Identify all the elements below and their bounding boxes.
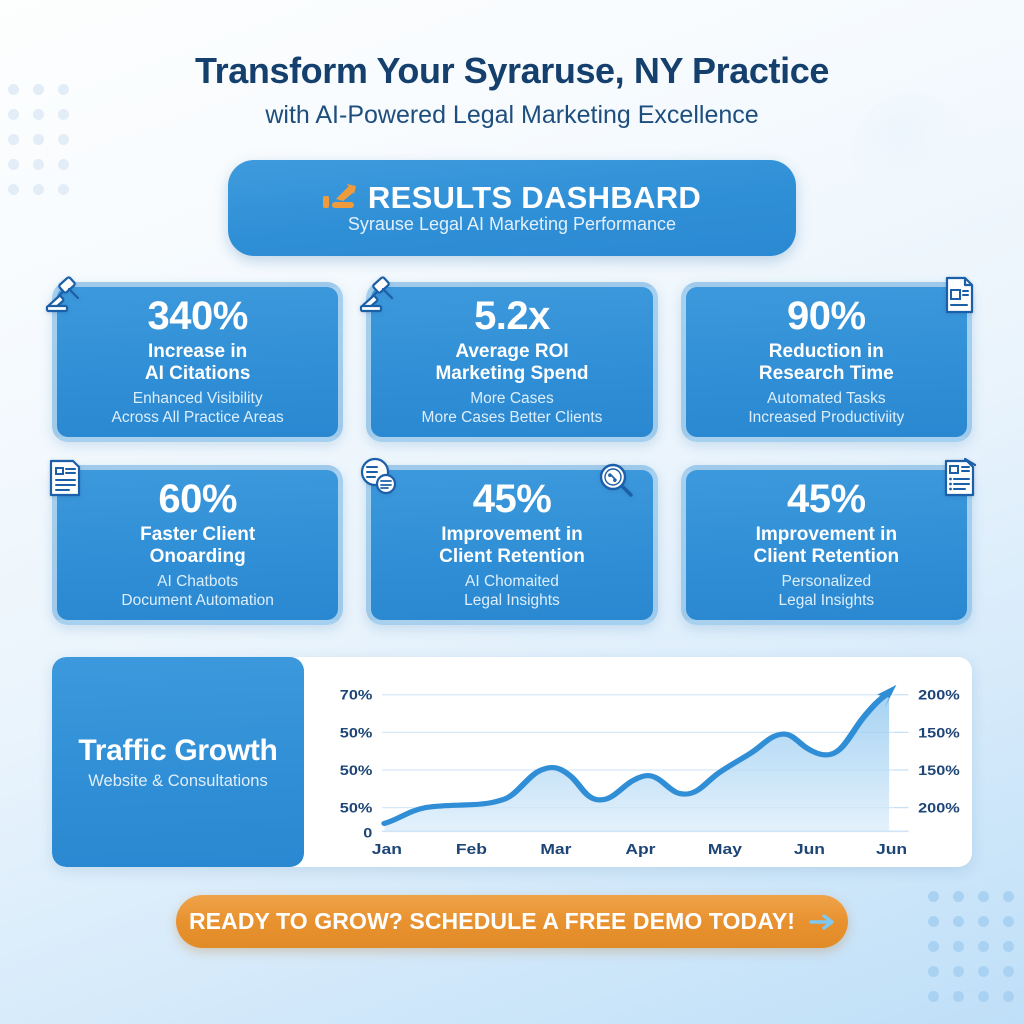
stat-card-label-line2: Research Time [759,363,894,385]
y-left-tick: 50% [340,802,373,816]
stat-card-desc-line2: Document Automation [121,592,274,610]
stat-card-value: 45% [473,479,552,519]
y-left-tick: 70% [340,689,373,703]
x-tick: Mar [540,843,571,858]
stat-card-label: Increase in AI Citations [145,341,251,384]
stat-card-label: Improvement in Client Retention [439,524,585,567]
stat-card-desc-line1: Personalized [779,573,875,591]
stat-card-desc-line1: Enhanced Visibility [112,390,284,408]
stat-card-label-line1: Improvement in [753,524,899,546]
chart-y-axis-left-labels: 70% 50% 50% 50% 0 [340,689,373,841]
stat-card-slot: 90% Reduction in Research Time Automated… [681,282,972,442]
x-tick: Apr [625,843,655,858]
page-subtitle: with AI-Powered Legal Marketing Excellen… [52,100,972,130]
page-title: Transform Your Syraruse, NY Practice [52,50,972,91]
y-right-tick: 150% [918,765,960,779]
banner-subtitle: Syrause Legal AI Marketing Performance [348,215,676,235]
stat-card-slot: 60% Faster Client Onoarding AI Chatbots … [52,465,343,625]
results-dashboard-banner: RESULTS DASHBARD Syrause Legal AI Market… [228,160,796,256]
chart-right-ticks [894,695,908,832]
stat-card-desc-line2: More Cases Better Clients [422,409,603,427]
stat-card-desc-line1: Automated Tasks [748,390,904,408]
stat-card: 90% Reduction in Research Time Automated… [681,282,972,442]
stat-card-value: 45% [787,479,866,519]
stat-card-label-line1: Increase in [145,341,251,363]
x-tick: Jan [372,843,402,858]
stat-card-desc: AI Chomaited Legal Insights [464,573,560,610]
banner-title: RESULTS DASHBARD [368,182,701,213]
chart-x-axis-labels: Jan Feb Mar Apr May Jun Jun [372,843,907,858]
magnifier-percent-icon [594,459,638,503]
y-right-tick: 200% [918,689,960,703]
stat-card: 5.2x Average ROI Marketing Spend More Ca… [366,282,657,442]
traffic-panel-subtitle: Website & Consultations [88,772,267,790]
stat-card-desc-line1: More Cases [422,390,603,408]
stat-card: 45% Improvement in Client Retention Pers… [681,465,972,625]
bar-chart-arrow-icon [323,183,357,211]
x-tick: Feb [456,843,487,858]
chart-area-fill [384,693,889,832]
stat-card-value: 60% [158,479,237,519]
stat-card-desc-line1: AI Chatbots [121,573,274,591]
banner-title-row: RESULTS DASHBARD [323,182,701,213]
stat-card-label-line1: Average ROI [435,341,588,363]
stat-card-desc: More Cases More Cases Better Clients [422,390,603,427]
stat-card: 340% Increase in AI Citations Enhanced V… [52,282,343,442]
stat-card-desc: Automated Tasks Increased Productiviity [748,390,904,427]
traffic-growth-panel: Traffic Growth Website & Consultations [52,657,972,867]
stat-card: 60% Faster Client Onoarding AI Chatbots … [52,465,343,625]
x-tick: Jun [794,843,825,858]
stat-card-label: Average ROI Marketing Spend [435,341,588,384]
stat-card-label-line1: Reduction in [759,341,894,363]
stat-card-value: 5.2x [474,296,550,336]
y-left-tick: 50% [340,765,373,779]
stat-card-label: Improvement in Client Retention [753,524,899,567]
arrow-right-icon [809,912,835,932]
stat-card-value: 90% [787,296,866,336]
stat-card-label: Faster Client Onoarding [140,524,255,567]
traffic-panel-title: Traffic Growth [78,735,277,767]
stat-card-label-line1: Improvement in [439,524,585,546]
traffic-chart-area: 70% 50% 50% 50% 0 200% 150% 150% 200% Ja… [304,657,972,867]
y-right-tick: 150% [918,727,960,741]
document-lines-icon [43,456,87,500]
contract-checklist-icon [937,456,981,500]
cta-label: READY TO GROW? SCHEDULE A FREE DEMO TODA… [189,908,795,935]
stat-card-desc-line2: Across All Practice Areas [112,409,284,427]
stat-card-desc: Enhanced Visibility Across All Practice … [112,390,284,427]
traffic-panel-header: Traffic Growth Website & Consultations [52,657,304,867]
traffic-growth-chart: 70% 50% 50% 50% 0 200% 150% 150% 200% Ja… [312,673,964,863]
stats-card-grid: 340% Increase in AI Citations Enhanced V… [52,282,972,625]
y-left-tick: 50% [340,727,373,741]
stat-card-desc-line2: Increased Productiviity [748,409,904,427]
results-banner-wrap: RESULTS DASHBARD Syrause Legal AI Market… [52,160,972,256]
stat-card-desc: AI Chatbots Document Automation [121,573,274,610]
cta-wrap: READY TO GROW? SCHEDULE A FREE DEMO TODA… [52,895,972,948]
schedule-demo-button[interactable]: READY TO GROW? SCHEDULE A FREE DEMO TODA… [176,895,848,948]
stat-card-desc: Personalized Legal Insights [779,573,875,610]
stat-card-label-line2: Client Retention [753,546,899,568]
stat-card-slot: 45% Improvement in Client Retention Pers… [681,465,972,625]
x-tick: May [708,843,742,858]
stat-card-desc-line1: AI Chomaited [464,573,560,591]
stat-card-slot: 5.2x Average ROI Marketing Spend More Ca… [366,282,657,442]
x-tick: Jun [876,843,907,858]
stat-card-label: Reduction in Research Time [759,341,894,384]
stat-card-desc-line2: Legal Insights [464,592,560,610]
infographic-page: Transform Your Syraruse, NY Practice wit… [0,0,1024,1024]
stat-card-slot: 340% Increase in AI Citations Enhanced V… [52,282,343,442]
stat-card-desc-line2: Legal Insights [779,592,875,610]
stat-card-label-line2: Onoarding [140,546,255,568]
document-search-icon [937,273,981,317]
y-right-tick: 200% [918,802,960,816]
gavel-icon [357,273,401,317]
stat-card-label-line2: Client Retention [439,546,585,568]
stat-card-label-line2: Marketing Spend [435,363,588,385]
document-stack-icon [357,456,401,500]
chart-y-axis-right-labels: 200% 150% 150% 200% [918,689,960,816]
stat-card-label-line2: AI Citations [145,363,251,385]
y-left-tick: 0 [363,827,372,841]
stat-card-slot: 45% Improvement in Client Retention AI C… [366,465,657,625]
gavel-icon [43,273,87,317]
stat-card-value: 340% [148,296,248,336]
header: Transform Your Syraruse, NY Practice wit… [52,0,972,130]
stat-card-label-line1: Faster Client [140,524,255,546]
